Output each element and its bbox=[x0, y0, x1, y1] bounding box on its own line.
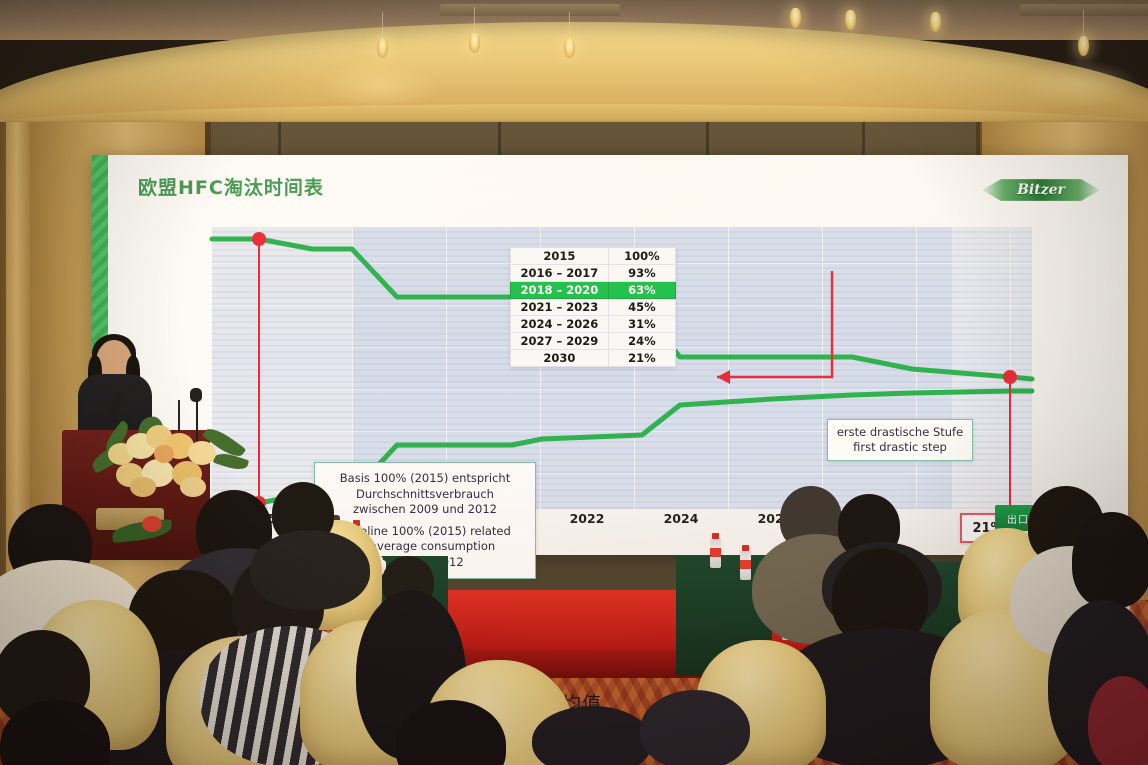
ceiling-lamp bbox=[790, 8, 801, 28]
slide-title: 欧盟HFC淘汰时间表 bbox=[138, 173, 324, 200]
logo-wordmark: Bitzer bbox=[982, 182, 1100, 198]
table-cell-percent: 21% bbox=[608, 350, 675, 367]
table-cell-period: 2015 bbox=[511, 248, 609, 265]
ceiling-lamp bbox=[1078, 36, 1089, 56]
microphone-icon bbox=[190, 388, 202, 402]
table-cell-percent: 24% bbox=[608, 333, 675, 350]
table-row: 2027 – 202924% bbox=[511, 333, 676, 350]
table-cell-period: 2018 – 2020 bbox=[511, 282, 609, 299]
ceiling-lamp bbox=[930, 12, 941, 32]
ceiling-lamp bbox=[377, 38, 388, 58]
x-tick-label: 2022 bbox=[570, 511, 605, 526]
table-cell-percent: 93% bbox=[608, 265, 675, 282]
callout-first-drastic-step: erste drastische Stufe first drastic ste… bbox=[827, 419, 973, 461]
ceiling-lamp bbox=[469, 33, 480, 53]
table-cell-period: 2027 – 2029 bbox=[511, 333, 609, 350]
table-row: 2015100% bbox=[511, 248, 676, 265]
ceiling-lamp bbox=[564, 38, 575, 58]
audience-body bbox=[250, 530, 370, 610]
x-tick-label: 2024 bbox=[664, 511, 699, 526]
callout-line: Basis 100% (2015) entspricht bbox=[321, 471, 529, 487]
table-cell-period: 2030 bbox=[511, 350, 609, 367]
audience-body bbox=[640, 690, 750, 765]
light-glow bbox=[320, 62, 440, 110]
table-cell-percent: 31% bbox=[608, 316, 675, 333]
annotation-arrowhead bbox=[717, 370, 730, 384]
marker-2015-top bbox=[252, 232, 266, 246]
flower-arrangement bbox=[92, 415, 244, 495]
table-cell-period: 2021 – 2023 bbox=[511, 299, 609, 316]
light-track bbox=[1020, 4, 1148, 16]
marker-2030-top bbox=[1003, 370, 1017, 384]
table-cell-period: 2024 – 2026 bbox=[511, 316, 609, 333]
callout-line: first drastic step bbox=[834, 440, 966, 455]
water-bottle bbox=[740, 550, 751, 580]
table-row: 2018 – 202063% bbox=[511, 282, 676, 299]
phasedown-table-body: 2015100%2016 – 201793%2018 – 202063%2021… bbox=[511, 248, 676, 367]
ceiling-lamp bbox=[845, 10, 856, 30]
table-cell-percent: 63% bbox=[608, 282, 675, 299]
callout-line: erste drastische Stufe bbox=[834, 425, 966, 440]
water-bottle bbox=[710, 538, 721, 568]
phasedown-table: 2015100%2016 – 201793%2018 – 202063%2021… bbox=[510, 247, 676, 367]
callout-line: zwischen 2009 und 2012 bbox=[321, 502, 529, 518]
light-track bbox=[440, 4, 620, 16]
table-row: 203021% bbox=[511, 350, 676, 367]
table-row: 2024 – 202631% bbox=[511, 316, 676, 333]
callout-line: Durchschnittsverbrauch bbox=[321, 487, 529, 503]
audience-head bbox=[1072, 512, 1148, 608]
annotation-line-drastic-step bbox=[717, 271, 832, 377]
table-cell-period: 2016 – 2017 bbox=[511, 265, 609, 282]
table-cell-percent: 100% bbox=[608, 248, 675, 265]
table-row: 2021 – 202345% bbox=[511, 299, 676, 316]
table-row: 2016 – 201793% bbox=[511, 265, 676, 282]
light-glow bbox=[1020, 60, 1140, 108]
stage-flower bbox=[142, 516, 162, 532]
bitzer-logo: Bitzer bbox=[982, 173, 1100, 207]
table-cell-percent: 45% bbox=[608, 299, 675, 316]
conference-room-photo: 欧盟HFC淘汰时间表 Bitzer bbox=[0, 0, 1148, 765]
